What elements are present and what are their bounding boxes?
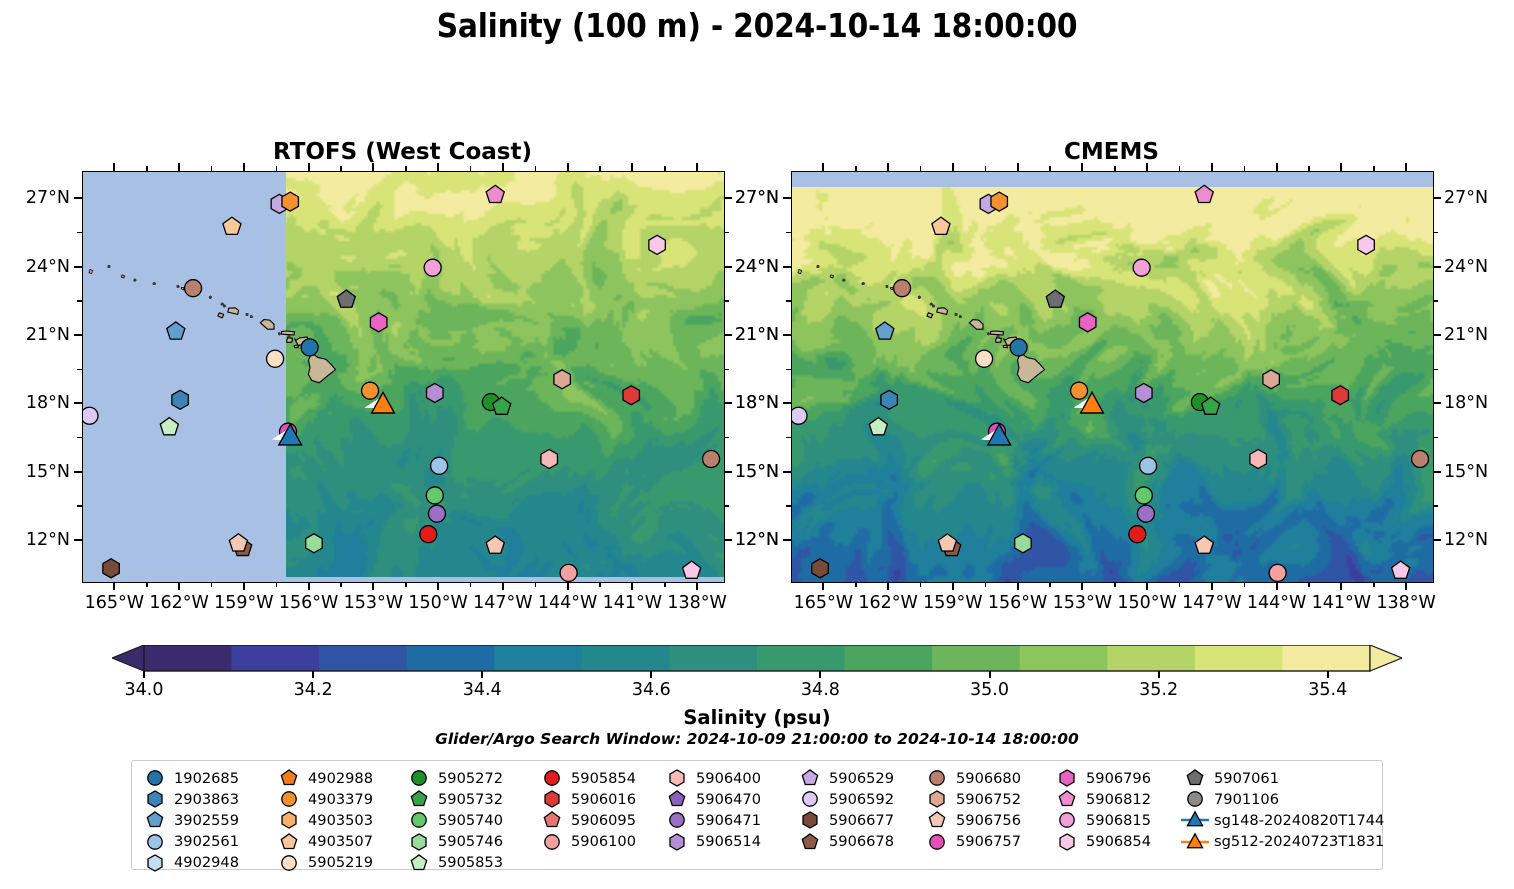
argo-float-marker [1015,534,1031,553]
argo-float-marker [301,339,318,356]
legend-entry[interactable]: 5906757 [922,831,1021,853]
axis-tick [372,163,374,171]
axis-tick [308,163,310,171]
marker-legend: 1902685290386339025593902561490294849029… [131,760,1383,870]
hexagon-marker-icon [140,852,170,874]
argo-float-marker [267,350,284,367]
axis-tick [470,166,471,171]
axis-tick [631,582,633,590]
legend-entry[interactable]: 3902559 [140,809,239,831]
axis-tick [1017,163,1019,171]
y-tick-label-right: 27°N [1444,188,1488,208]
axis-tick [1340,582,1342,590]
colorbar [112,645,1402,683]
legend-entry[interactable]: 5906529 [795,767,894,789]
axis-tick [1373,582,1374,587]
argo-float-marker [426,487,443,504]
legend-entry[interactable]: 5905219 [274,852,373,874]
legend-entry[interactable]: 5906100 [537,831,636,853]
argo-float-marker [1140,457,1157,474]
axis-tick [952,163,954,171]
axis-tick [146,166,147,171]
axis-tick [77,232,82,233]
axis-tick [1114,582,1115,587]
legend-entry[interactable]: 5905732 [404,788,503,810]
x-tick-label: 138°W [667,593,726,613]
hexagon-marker-icon [1052,767,1082,789]
argo-float-marker [1358,235,1374,254]
colorbar-band [845,645,933,671]
legend-entry-label: 5906815 [1086,812,1151,829]
legend-entry[interactable]: 5906016 [537,788,636,810]
island-polygon [181,287,184,290]
argo-float-marker [1332,386,1348,405]
argo-float-marker [1250,449,1266,468]
legend-entry-label: 7901106 [1214,791,1279,808]
circle-marker-icon [795,788,825,810]
legend-entry[interactable]: sg148-20240820T1744 [1180,809,1384,831]
axis-tick [372,582,374,590]
legend-entry-label: 5905219 [308,854,373,871]
argo-float-marker [185,280,202,297]
argo-float-marker [1129,526,1146,543]
search-window-caption: Glider/Argo Search Window: 2024-10-09 21… [0,730,1514,748]
island-polygon [282,331,295,335]
colorbar-band [407,645,495,671]
axis-tick [535,166,536,171]
legend-entry-label: 5906016 [571,791,636,808]
legend-entry-label: 5906529 [829,770,894,787]
argo-float-marker [370,313,386,332]
axis-tick [822,582,824,590]
colorbar-tick [819,671,821,678]
colorbar-tick-label: 34.6 [632,680,671,700]
axis-tick [1433,471,1441,473]
legend-entry-label: 5906100 [571,833,636,850]
x-tick-label: 138°W [1376,593,1435,613]
axis-tick [567,582,569,590]
legend-entry-label: 5906471 [696,812,761,829]
axis-tick [724,505,729,506]
argo-float-marker [894,280,911,297]
argo-float-marker [541,449,557,468]
colorbar-tick [1327,671,1329,678]
pentagon-marker-icon [274,831,304,853]
legend-entry[interactable]: 5905740 [404,809,503,831]
x-tick-label: 156°W [279,593,338,613]
axis-tick [1433,334,1441,336]
legend-entry[interactable]: 5906095 [537,809,636,831]
argo-float-marker [649,235,665,254]
pentagon-marker-icon [404,852,434,874]
colorbar-band [1107,645,1195,671]
axis-tick [724,437,729,438]
x-tick-label: 165°W [794,593,853,613]
circle-marker-icon [1052,809,1082,831]
axis-tick [74,471,82,473]
axis-tick [77,369,82,370]
argo-float-marker [1412,451,1429,468]
argo-float-marker [812,559,828,578]
colorbar-tick-label: 34.2 [294,680,333,700]
salinity-field [792,172,1433,582]
y-tick-label-right: 18°N [1444,393,1488,413]
x-tick-label: 153°W [344,593,403,613]
argo-float-marker [431,457,448,474]
legend-entry-label: 2903863 [174,791,239,808]
axis-tick [1433,197,1441,199]
circle-marker-icon [404,767,434,789]
axis-tick [1146,582,1148,590]
y-tick-label-left: 12°N [713,530,779,550]
legend-entry[interactable]: 3902561 [140,831,239,853]
axis-tick [786,369,791,370]
y-tick-label-left: 18°N [4,393,70,413]
legend-entry-label: 5906678 [829,833,894,850]
x-tick-label: 153°W [1053,593,1112,613]
hexagon-marker-icon [1052,831,1082,853]
axis-tick [178,163,180,171]
axis-tick [1433,539,1441,541]
x-tick-label: 141°W [1312,593,1371,613]
colorbar-tick [1158,671,1160,678]
axis-tick [783,266,791,268]
pentagon-marker-icon [140,809,170,831]
axis-tick [77,437,82,438]
legend-entry[interactable]: 4903507 [274,831,373,853]
argo-float-marker [103,559,119,578]
map-panel-rtofs [82,171,725,583]
hexagon-marker-icon [140,788,170,810]
axis-tick [786,437,791,438]
axis-tick [786,300,791,301]
circle-marker-icon [537,831,567,853]
axis-tick [1276,582,1278,590]
axis-tick [786,505,791,506]
argo-float-marker [1010,339,1027,356]
axis-tick [74,402,82,404]
axis-tick [1244,166,1245,171]
argo-float-marker [1135,487,1152,504]
argo-float-marker [623,386,639,405]
x-tick-label: 159°W [214,593,273,613]
axis-tick [74,266,82,268]
pentagon-marker-icon [404,788,434,810]
axis-tick [599,166,600,171]
axis-tick [276,166,277,171]
axis-tick [631,163,633,171]
argo-float-marker [976,350,993,367]
axis-tick [1244,582,1245,587]
colorbar-tick [650,671,652,678]
argo-float-marker [1071,382,1088,399]
y-tick-label-right: 15°N [1444,462,1488,482]
panel-title-cmems: CMEMS [791,139,1432,165]
figure-suptitle: Salinity (100 m) - 2024-10-14 18:00:00 [0,6,1514,45]
legend-entry-label: 5906095 [571,812,636,829]
y-tick-label-right: 24°N [1444,257,1488,277]
axis-tick [77,505,82,506]
y-tick-label-left: 21°N [713,325,779,345]
colorbar-tick [312,671,314,678]
axis-tick [783,539,791,541]
axis-tick [243,582,245,590]
legend-entry-label: 3902561 [174,833,239,850]
axis-tick [664,582,665,587]
x-tick-label: 150°W [1117,593,1176,613]
legend-entry[interactable]: 5906752 [922,788,1021,810]
legend-entry-label: 5906400 [696,770,761,787]
legend-entry[interactable]: 4902948 [140,852,239,874]
axis-tick [887,582,889,590]
legend-entry[interactable]: 5907061 [1180,767,1279,789]
legend-entry-label: 5906756 [956,812,1021,829]
legend-entry[interactable]: 5906400 [662,767,761,789]
legend-entry-label: 5905746 [438,833,503,850]
hexagon-marker-icon [662,831,692,853]
colorbar-band [757,645,845,671]
legend-entry-label: 5906757 [956,833,1021,850]
colorbar-tick-label: 35.2 [1139,680,1178,700]
legend-entry[interactable]: 5906756 [922,809,1021,831]
axis-tick [340,582,341,587]
circle-marker-icon [140,831,170,853]
x-tick-label: 162°W [149,593,208,613]
colorbar-tick [989,671,991,678]
x-tick-label: 147°W [1182,593,1241,613]
argo-float-marker [362,382,379,399]
axis-tick [1433,437,1438,438]
legend-entry[interactable]: sg512-20240723T1831 [1180,831,1384,853]
axis-tick [786,232,791,233]
circle-marker-icon [274,852,304,874]
axis-tick [783,197,791,199]
island-polygon [991,331,1004,335]
y-tick-label-left: 21°N [4,325,70,345]
legend-entry[interactable]: 5906514 [662,831,761,853]
colorbar-band [669,645,757,671]
colorbar-extend-min [112,645,144,671]
argo-float-marker [172,390,188,409]
axis-tick [855,166,856,171]
y-tick-label-left: 24°N [4,257,70,277]
colorbar-band [232,645,320,671]
axis-tick [1433,505,1438,506]
legend-entry-label: 5906470 [696,791,761,808]
legend-entry[interactable]: 5906677 [795,809,894,831]
axis-tick [920,166,921,171]
pentagon-marker-icon [795,831,825,853]
y-tick-label-right: 12°N [1444,530,1488,550]
axis-tick [1017,582,1019,590]
axis-tick [1049,582,1050,587]
legend-entry[interactable]: 5905854 [537,767,636,789]
argo-float-marker [1133,259,1150,276]
colorbar-band [1282,645,1370,671]
colorbar-tick [481,671,483,678]
y-tick-label-left: 15°N [4,462,70,482]
argo-float-marker [554,370,570,389]
panel-title-rtofs: RTOFS (West Coast) [82,139,723,165]
axis-tick [783,402,791,404]
legend-entry-label: 3902559 [174,812,239,829]
legend-entry-label: 5906680 [956,770,1021,787]
legend-entry-label: 4903503 [308,812,373,829]
axis-tick [724,232,729,233]
legend-entry-label: sg148-20240820T1744 [1214,812,1384,829]
y-tick-label-left: 27°N [4,188,70,208]
axis-tick [985,582,986,587]
argo-float-marker [282,192,298,211]
legend-entry-label: 5906592 [829,791,894,808]
argo-float-marker [1137,505,1154,522]
legend-entry[interactable]: 4902988 [274,767,373,789]
hexagon-marker-icon [662,767,692,789]
argo-float-marker [424,259,441,276]
axis-tick [1276,163,1278,171]
colorbar-band [1020,645,1108,671]
argo-float-marker [1136,383,1152,402]
circle-marker-icon [140,767,170,789]
legend-entry[interactable]: 2903863 [140,788,239,810]
legend-entry-label: 5905854 [571,770,636,787]
legend-entry[interactable]: 5905853 [404,852,503,874]
axis-tick [146,582,147,587]
hexagon-marker-icon [274,809,304,831]
axis-tick [1211,163,1213,171]
axis-tick [724,369,729,370]
legend-entry[interactable]: 7901106 [1180,788,1279,810]
axis-tick [178,582,180,590]
axis-tick [599,582,600,587]
colorbar-band [932,645,1020,671]
axis-tick [405,582,406,587]
axis-tick [502,582,504,590]
legend-entry[interactable]: 5906812 [1052,788,1151,810]
island-polygon [294,345,298,348]
hexagon-marker-icon [922,788,952,810]
island-polygon [996,338,1002,343]
map-panel-cmems [791,171,1434,583]
circle-marker-icon [537,767,567,789]
axis-tick [211,582,212,587]
x-tick-label: 147°W [473,593,532,613]
axis-tick [437,163,439,171]
legend-entry-label: 4902988 [308,770,373,787]
legend-entry-label: 1902685 [174,770,239,787]
axis-tick [1081,582,1083,590]
hexagon-marker-icon [795,809,825,831]
legend-entry-label: 5905732 [438,791,503,808]
glider-marker-icon [1180,809,1210,831]
legend-entry[interactable]: 5905272 [404,767,503,789]
axis-tick [1373,166,1374,171]
axis-tick [1433,369,1438,370]
axis-tick [113,163,115,171]
legend-entry[interactable]: 5906854 [1052,831,1151,853]
axis-tick [1308,166,1309,171]
legend-entry[interactable]: 4903503 [274,809,373,831]
island-polygon [121,275,124,278]
axis-tick [74,539,82,541]
legend-entry-label: 5907061 [1214,770,1279,787]
axis-tick [502,163,504,171]
axis-tick [696,163,698,171]
x-tick-label: 141°W [603,593,662,613]
colorbar-band [319,645,407,671]
axis-tick [211,166,212,171]
colorbar-band [494,645,582,671]
axis-tick [243,163,245,171]
legend-entry[interactable]: 5905746 [404,831,503,853]
legend-entry[interactable]: 5906678 [795,831,894,853]
legend-entry[interactable]: 5906796 [1052,767,1151,789]
argo-float-marker [792,407,807,424]
argo-float-marker [560,564,577,581]
x-tick-label: 144°W [538,593,597,613]
colorbar-tick-label: 34.4 [463,680,502,700]
y-tick-label-left: 18°N [713,393,779,413]
argo-float-marker [83,407,98,424]
axis-tick [1433,266,1441,268]
island-polygon [89,270,93,274]
glider-marker-icon [1180,831,1210,853]
axis-tick [724,300,729,301]
hexagon-marker-icon [537,788,567,810]
argo-float-marker [427,383,443,402]
axis-tick [74,334,82,336]
axis-tick [783,334,791,336]
axis-tick [437,582,439,590]
axis-tick [887,163,889,171]
legend-entry[interactable]: 5906592 [795,788,894,810]
axis-tick [1308,582,1309,587]
axis-tick [822,163,824,171]
argo-float-marker [306,534,322,553]
axis-tick [77,300,82,301]
colorbar-tick [143,671,145,678]
legend-entry-label: 5906514 [696,833,761,850]
legend-entry[interactable]: 4903379 [274,788,373,810]
x-tick-label: 159°W [923,593,982,613]
axis-tick [783,471,791,473]
axis-tick [1146,163,1148,171]
legend-entry-label: 4903379 [308,791,373,808]
legend-entry-label: 5906796 [1086,770,1151,787]
island-polygon [1003,345,1007,348]
legend-entry[interactable]: 5906815 [1052,809,1151,831]
pentagon-marker-icon [922,809,952,831]
axis-tick [567,163,569,171]
x-tick-label: 150°W [408,593,467,613]
x-tick-label: 165°W [85,593,144,613]
circle-marker-icon [274,788,304,810]
legend-entry-label: 5906752 [956,791,1021,808]
no-data-region [792,172,1433,187]
y-tick-label-left: 15°N [713,462,779,482]
island-polygon [287,338,293,343]
legend-entry[interactable]: 5906471 [662,809,761,831]
circle-marker-icon [922,831,952,853]
axis-tick [920,582,921,587]
legend-entry[interactable]: 5906470 [662,788,761,810]
circle-marker-icon [404,809,434,831]
axis-tick [664,166,665,171]
legend-entry-label: 5906812 [1086,791,1151,808]
legend-entry[interactable]: 5906680 [922,767,1021,789]
pentagon-marker-icon [274,767,304,789]
legend-entry[interactable]: 1902685 [140,767,239,789]
